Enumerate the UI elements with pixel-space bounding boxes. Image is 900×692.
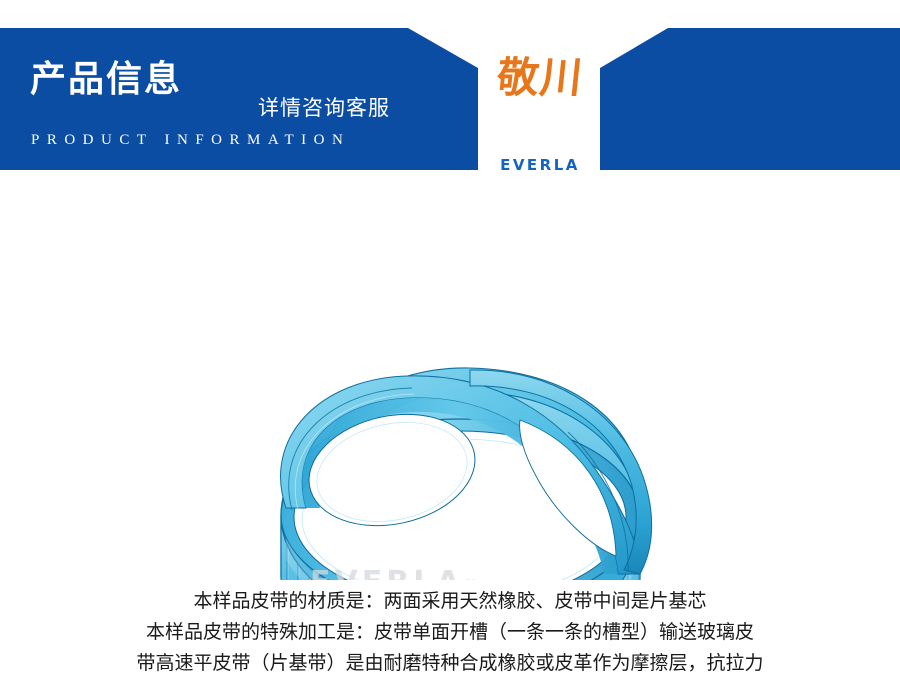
brand-logo: 敬川 EVERLA [470, 30, 610, 170]
caption-line-1: 本样品皮带的材质是：两面采用天然橡胶、皮带中间是片基芯 [0, 586, 900, 617]
brand-logo-english: EVERLA [470, 156, 610, 170]
brand-logo-zone: 敬川 EVERLA [470, 30, 610, 170]
product-description-caption: 本样品皮带的材质是：两面采用天然橡胶、皮带中间是片基芯 本样品皮带的特殊加工是：… [0, 586, 900, 679]
belt-product-illustration [0, 170, 900, 580]
banner-right-block [600, 28, 900, 170]
banner-english-subtitle: PRODUCT INFORMATION [31, 132, 350, 149]
caption-line-2: 本样品皮带的特殊加工是：皮带单面开槽（一条一条的槽型）输送玻璃皮 [0, 617, 900, 648]
brand-logo-chinese: 敬川 [468, 56, 613, 100]
banner-subtitle: 详情咨询客服 [258, 92, 390, 122]
product-image-area: EVERLA敬川 [0, 170, 900, 580]
page-header-banner: 产品信息 详情咨询客服 PRODUCT INFORMATION 敬川 EVERL… [0, 0, 900, 170]
caption-line-3: 带高速平皮带（片基带）是由耐磨特种合成橡胶或皮革作为摩擦层，抗拉力 [0, 648, 900, 679]
banner-title: 产品信息 [30, 58, 182, 102]
